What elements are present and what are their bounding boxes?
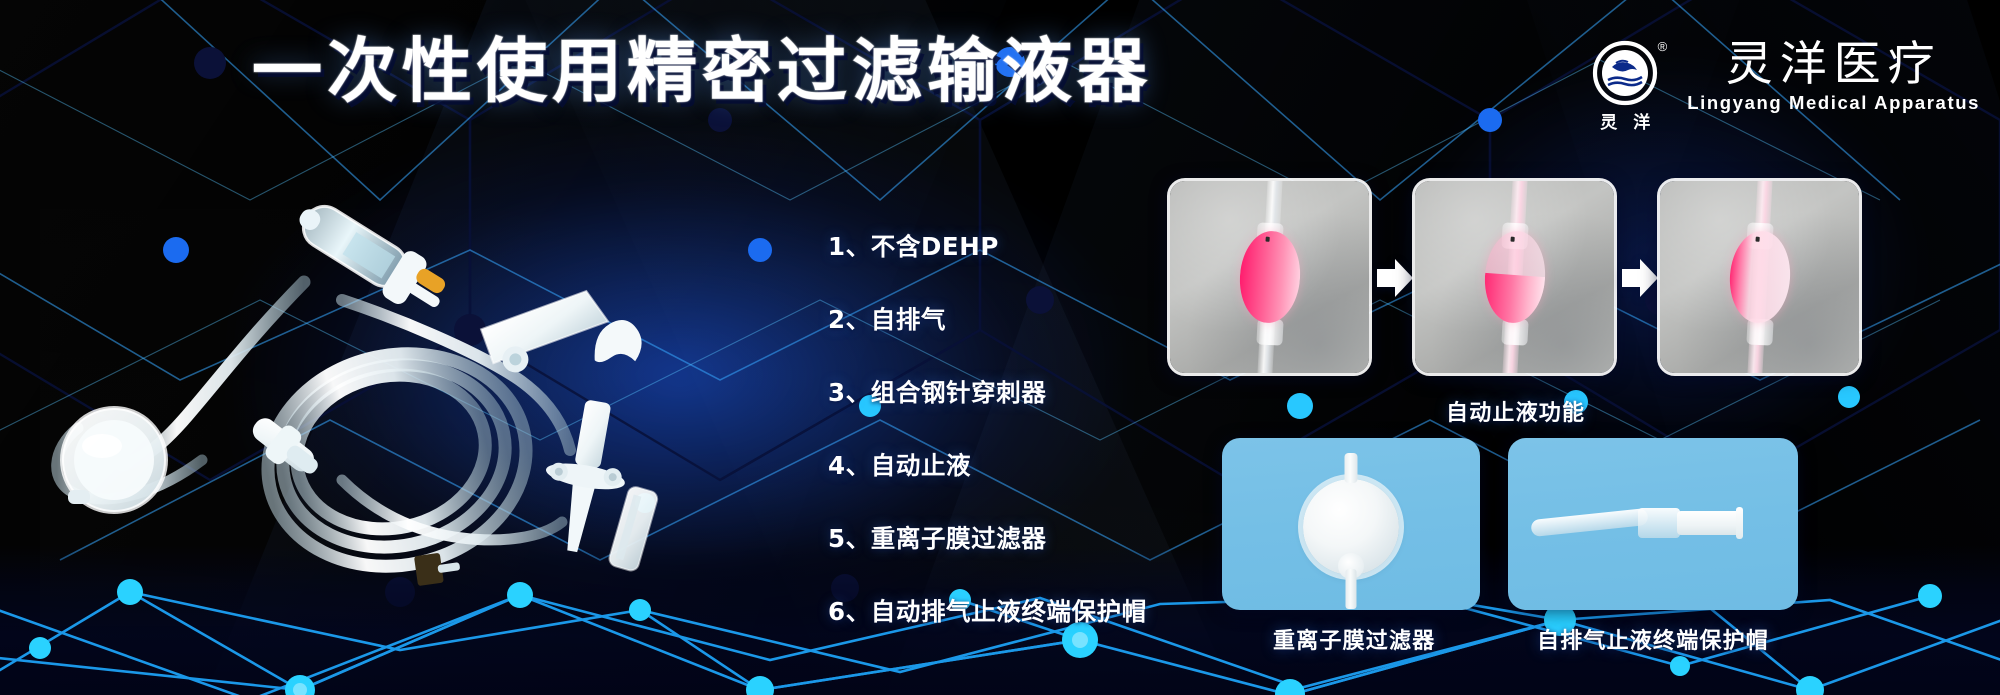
feature-item-1: 1、不含DEHP [828,228,1208,263]
luer-terminal-cap-photo-icon [1531,502,1775,546]
photo-backdrop-blue [1222,438,1480,610]
detail-photo-filter [1222,438,1480,610]
brand-name-en: Lingyang Medical Apparatus [1687,92,1980,114]
brand-text: 灵洋医疗 Lingyang Medical Apparatus [1687,40,1980,114]
feature-item-4: 4、自动止液 [828,447,1208,482]
filter-chamber-half [1481,229,1547,325]
filter-chamber-empty [1726,229,1792,325]
detail-caption-filter: 重离子膜过滤器 [1273,623,1435,655]
emblem-sub-left: 灵 [1600,108,1617,133]
feature-item-5: 5、重离子膜过滤器 [828,520,1208,555]
arrow-right-icon-2 [1620,256,1660,300]
registered-mark: ® [1658,39,1668,54]
logo-emblem: ® 灵 洋 [1585,40,1665,133]
feature-item-2: 2、自排气 [828,301,1208,336]
photo-backdrop-gray [1170,181,1369,373]
infusion-set-product-photo [42,160,802,580]
sequence-photo-2 [1412,178,1617,376]
product-banner: 一次性使用精密过滤输液器 ® 灵 洋 灵洋医疗 Lingya [0,0,2000,695]
photo-backdrop-gray [1660,181,1859,373]
feature-list: 1、不含DEHP 2、自排气 3、组合钢针穿刺器 4、自动止液 5、重离子膜过滤… [828,228,1208,628]
brand-name-cn: 灵洋医疗 [1726,40,1942,90]
detail-photo-cap [1508,438,1798,610]
page-title: 一次性使用精密过滤输液器 [252,36,1152,107]
feature-item-6: 6、自动排气止液终端保护帽 [828,593,1208,628]
photo-backdrop-gray [1415,181,1614,373]
detail-caption-cap: 自排气止液终端保护帽 [1537,623,1769,655]
filter-chamber-full [1236,229,1302,325]
feature-item-3: 3、组合钢针穿刺器 [828,374,1208,409]
brand-logo: ® 灵 洋 灵洋医疗 Lingyang Medical Apparatus [1585,40,1980,133]
round-membrane-filter-photo-icon [1303,479,1399,575]
sequence-photo-3 [1657,178,1862,376]
sequence-photo-1 [1167,178,1372,376]
lingyang-wave-circle-emblem-icon: ® [1592,40,1658,106]
photo-backdrop-blue [1508,438,1798,610]
sequence-caption: 自动止液功能 [1446,395,1585,427]
emblem-sub-right: 洋 [1633,108,1650,133]
arrow-right-icon-1 [1375,256,1415,300]
emblem-subtext: 灵 洋 [1600,108,1650,133]
